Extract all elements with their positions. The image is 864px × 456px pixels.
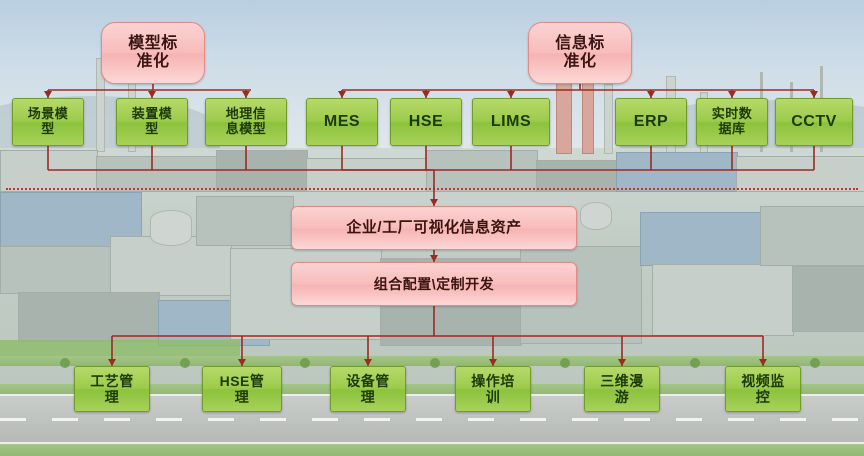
node-hse-label: HSE — [409, 113, 443, 131]
node-hse-mgmt-label: HSE管 理 — [220, 373, 265, 405]
node-operation-training-label: 操作培 训 — [471, 373, 515, 405]
node-3d-roaming[interactable]: 三维漫 游 — [584, 366, 660, 412]
node-erp[interactable]: ERP — [615, 98, 687, 146]
node-visual-asset[interactable]: 企业/工厂可视化信息资产 — [291, 206, 577, 250]
node-geo-info-model[interactable]: 地理信 息模型 — [205, 98, 287, 146]
node-device-model[interactable]: 装置模 型 — [116, 98, 188, 146]
node-device-model-label: 装置模 型 — [132, 107, 173, 137]
node-video-surveillance[interactable]: 视频监 控 — [725, 366, 801, 412]
node-process-mgmt[interactable]: 工艺管 理 — [74, 366, 150, 412]
node-geo-info-model-label: 地理信 息模型 — [226, 107, 267, 137]
node-process-mgmt-label: 工艺管 理 — [90, 373, 134, 405]
node-video-surveillance-label: 视频监 控 — [741, 373, 785, 405]
node-visual-asset-label: 企业/工厂可视化信息资产 — [346, 219, 521, 236]
node-model-std-label: 模型标 准化 — [128, 35, 178, 72]
node-erp-label: ERP — [634, 113, 668, 131]
node-realtime-db-label: 实时数 据库 — [712, 107, 753, 137]
node-lims-label: LIMS — [491, 113, 531, 131]
node-model-std[interactable]: 模型标 准化 — [101, 22, 205, 84]
diagram-canvas: 模型标 准化 信息标 准化 场景模 型 装置模 型 地理信 息模型 MES HS… — [0, 0, 864, 456]
node-mes[interactable]: MES — [306, 98, 378, 146]
node-scene-model-label: 场景模 型 — [28, 107, 69, 137]
node-operation-training[interactable]: 操作培 训 — [455, 366, 531, 412]
node-info-std-label: 信息标 准化 — [555, 35, 605, 72]
node-realtime-db[interactable]: 实时数 据库 — [696, 98, 768, 146]
node-3d-roaming-label: 三维漫 游 — [600, 373, 644, 405]
node-config-dev[interactable]: 组合配置\定制开发 — [291, 262, 577, 306]
node-equipment-mgmt[interactable]: 设备管 理 — [330, 366, 406, 412]
node-lims[interactable]: LIMS — [472, 98, 550, 146]
node-equipment-mgmt-label: 设备管 理 — [346, 373, 390, 405]
node-hse-mgmt[interactable]: HSE管 理 — [202, 366, 282, 412]
node-cctv-label: CCTV — [791, 113, 837, 131]
node-hse[interactable]: HSE — [390, 98, 462, 146]
node-scene-model[interactable]: 场景模 型 — [12, 98, 84, 146]
node-config-dev-label: 组合配置\定制开发 — [374, 276, 494, 292]
node-cctv[interactable]: CCTV — [775, 98, 853, 146]
node-mes-label: MES — [324, 113, 360, 131]
node-info-std[interactable]: 信息标 准化 — [528, 22, 632, 84]
